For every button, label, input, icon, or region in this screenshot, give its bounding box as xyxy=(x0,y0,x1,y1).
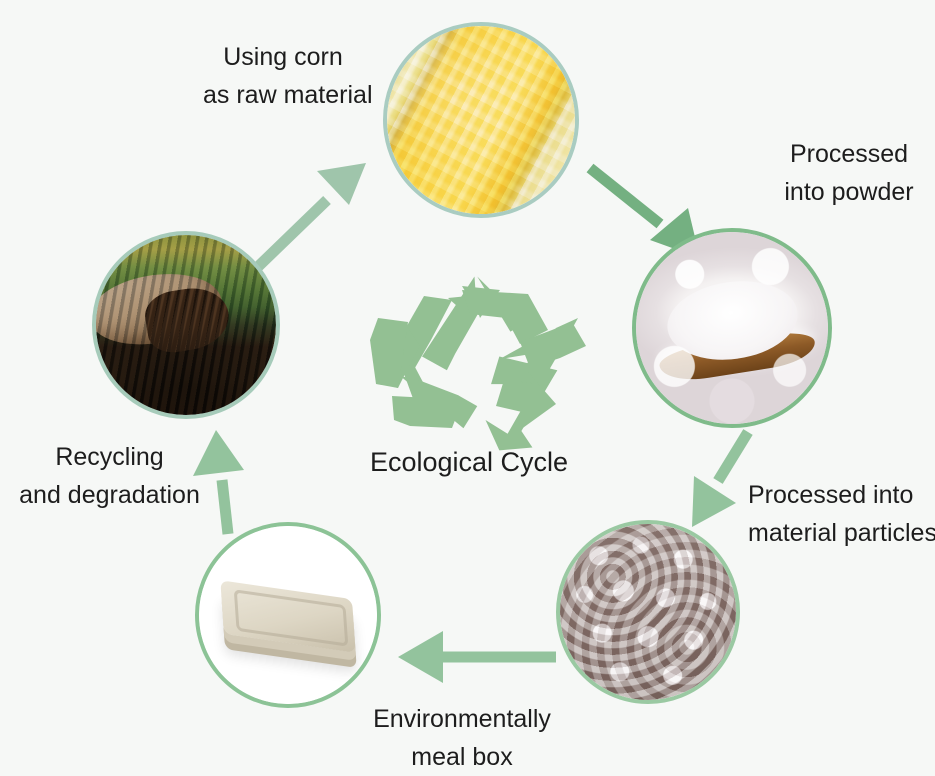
node-particles[interactable] xyxy=(556,520,740,704)
label-recycling-line1: Recycling xyxy=(55,443,163,471)
label-corn-line1: Using corn xyxy=(203,38,363,76)
corn-photo xyxy=(387,26,575,214)
wooden-spoon xyxy=(657,327,818,384)
label-corn: Using corn as raw material xyxy=(203,38,363,114)
label-mealbox: Environmentally meal box xyxy=(367,700,557,776)
node-powder[interactable] xyxy=(632,228,832,428)
label-corn-line2: as raw material xyxy=(203,76,363,114)
powder-heap xyxy=(662,273,802,367)
hand-soil-photo xyxy=(96,235,276,415)
label-mealbox-line1: Environmentally xyxy=(373,705,551,733)
label-recycling-line2: and degradation xyxy=(12,476,207,514)
node-mealbox[interactable] xyxy=(195,522,381,708)
label-particles-line1: Processed into xyxy=(748,481,913,509)
meal-box-photo xyxy=(199,526,377,704)
label-particles-line2: material particles xyxy=(748,514,935,552)
plastic-particles-photo xyxy=(560,524,736,700)
soil-clump xyxy=(142,283,233,356)
node-corn[interactable] xyxy=(383,22,579,218)
label-powder: Processed into powder xyxy=(779,135,919,211)
label-powder-line2: into powder xyxy=(779,173,919,211)
label-particles: Processed into material particles xyxy=(748,476,935,552)
powder-photo xyxy=(636,232,828,424)
label-powder-line1: Processed xyxy=(790,140,908,168)
hand-shape xyxy=(92,263,227,356)
node-recycling[interactable] xyxy=(92,231,280,419)
label-recycling: Recycling and degradation xyxy=(12,438,207,514)
meal-box-rim xyxy=(234,590,348,647)
ecological-cycle-diagram: Using corn as raw material Processed int… xyxy=(0,0,935,776)
label-mealbox-line2: meal box xyxy=(367,738,557,776)
meal-box-lid xyxy=(220,580,355,653)
page-title: Ecological Cycle xyxy=(339,445,599,479)
